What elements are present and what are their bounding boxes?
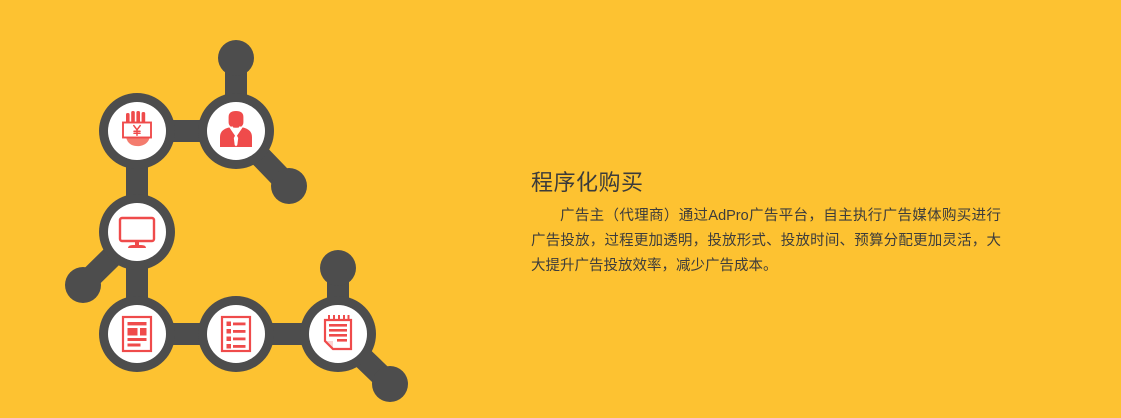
connector-dot-above-notepad	[320, 250, 356, 286]
connector-dot-left-middle	[65, 267, 101, 303]
node-checklist[interactable]	[198, 296, 274, 372]
node-notepad[interactable]	[300, 296, 376, 372]
connector-dot-top	[218, 40, 254, 76]
node-display[interactable]	[99, 194, 175, 270]
network-diagram	[0, 0, 470, 418]
page-root: 程序化购买 广告主（代理商）通过AdPro广告平台，自主执行广告媒体购买进行广告…	[0, 0, 1121, 418]
node-money-hand[interactable]	[99, 93, 175, 169]
node-advertiser[interactable]	[198, 93, 274, 169]
node-disc-checklist	[207, 305, 265, 363]
node-article[interactable]	[99, 296, 175, 372]
connector-dot-bottom-right	[372, 366, 408, 402]
node-disc-advertiser	[207, 102, 265, 160]
connector-dot-right-upper	[271, 168, 307, 204]
body-paragraph: 广告主（代理商）通过AdPro广告平台，自主执行广告媒体购买进行广告投放，过程更…	[531, 204, 1001, 279]
page-title: 程序化购买	[531, 168, 1001, 198]
content-block: 程序化购买 广告主（代理商）通过AdPro广告平台，自主执行广告媒体购买进行广告…	[531, 168, 1001, 279]
